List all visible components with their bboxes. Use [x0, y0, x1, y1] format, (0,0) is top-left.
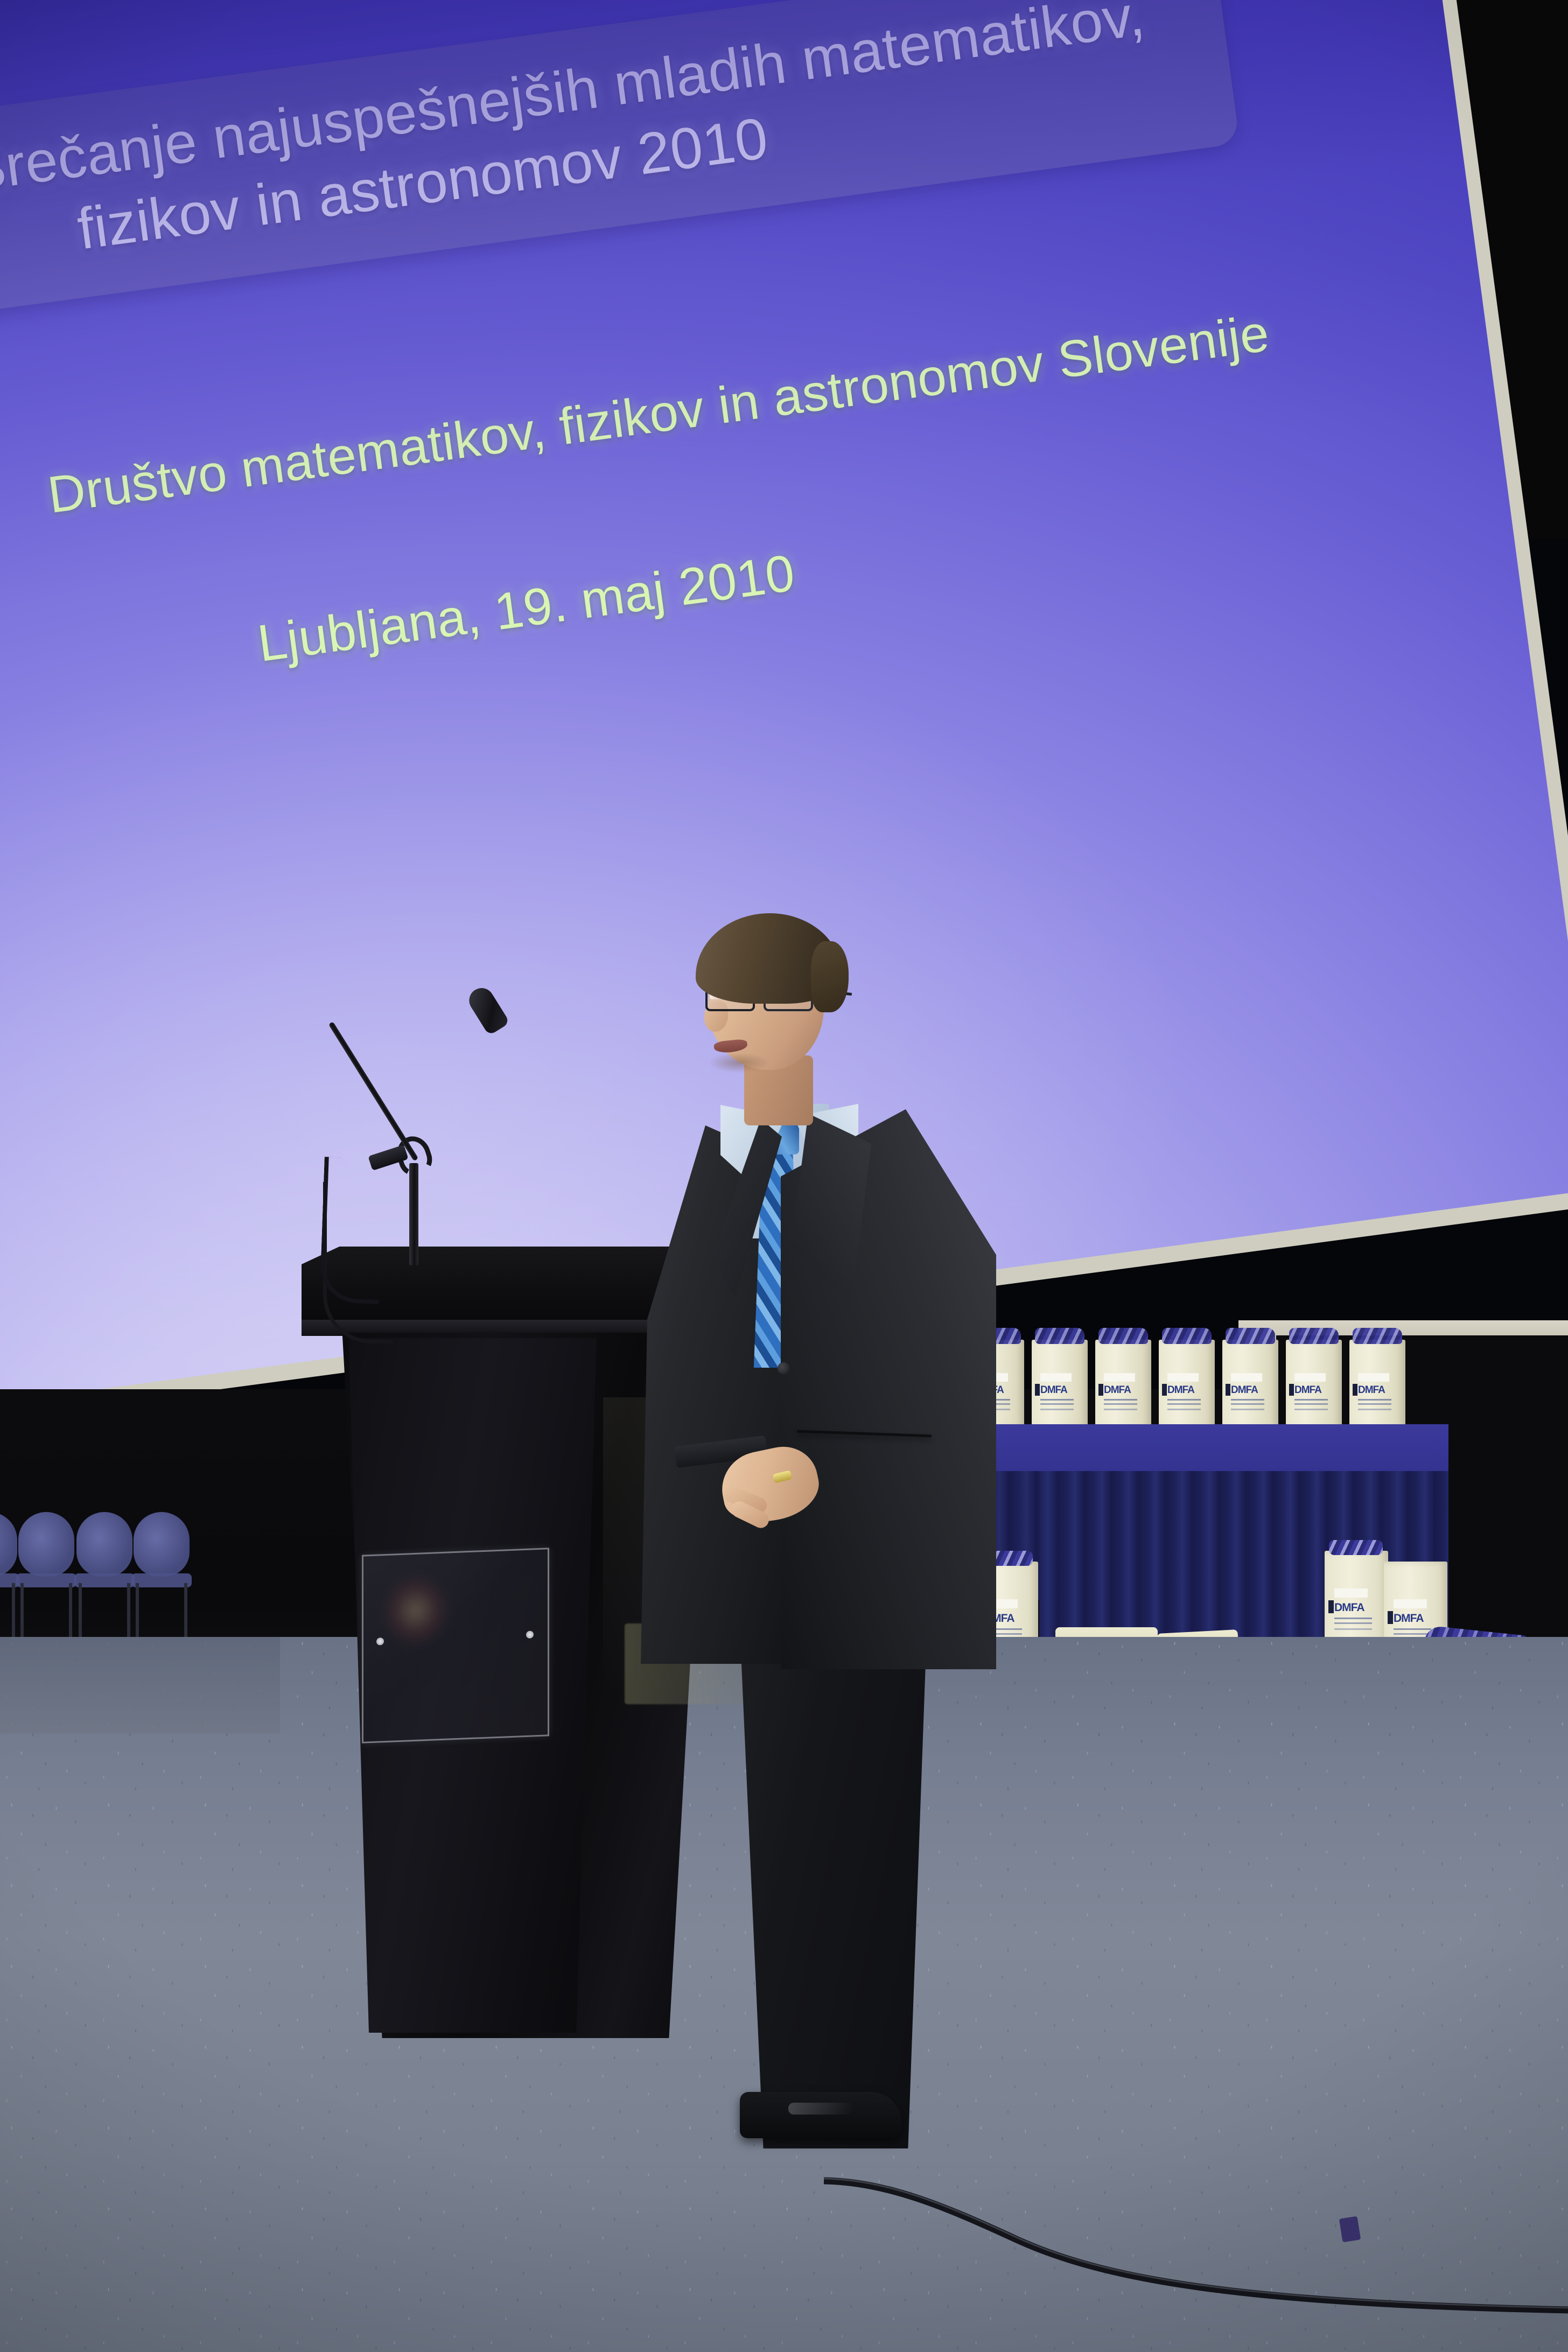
bag-logo: DMFA: [1294, 1385, 1321, 1395]
bag-label: [1231, 1373, 1262, 1382]
speaker: [619, 894, 1018, 2132]
bag-logo-subtext: [1294, 1399, 1328, 1401]
bag-logo: DMFA: [1104, 1385, 1131, 1395]
shoe-highlight: [788, 2103, 853, 2115]
bag-label: [1294, 1373, 1326, 1382]
microphone-stand: [409, 1163, 418, 1265]
gift-bag: DMFA: [1159, 1340, 1215, 1432]
slide-date-location: Ljubljana, 19. maj 2010: [254, 543, 798, 674]
microphone-gooseneck: [328, 1021, 418, 1161]
chair-leg: [127, 1583, 130, 1637]
bag-contents: [1035, 1328, 1084, 1344]
microphone: [318, 985, 544, 1265]
bag-logo: DMFA: [1394, 1612, 1424, 1625]
bag-label: [1334, 1588, 1368, 1598]
slide-title-band: Srečanje najuspešnejših mladih matematik…: [0, 0, 1240, 316]
chair-back: [134, 1512, 190, 1577]
bag-logo: DMFA: [1167, 1385, 1194, 1395]
bag-logo-subtext: [1358, 1399, 1391, 1401]
bag-contents: [1289, 1328, 1339, 1344]
bag-logo-subtext: [1231, 1399, 1264, 1401]
jacket-button: [778, 1362, 789, 1374]
gift-bag: DMFA: [1349, 1340, 1405, 1432]
bag-contents: [1226, 1328, 1275, 1344]
chair-leg: [184, 1583, 187, 1637]
microphone-head: [465, 983, 510, 1035]
bag-label: [1394, 1599, 1427, 1608]
bag-logo-subtext: [1334, 1618, 1372, 1619]
gift-bag: DMFA: [1095, 1340, 1151, 1432]
floor-cable: [824, 2132, 1568, 2315]
lectern-acrylic-panel: [362, 1548, 549, 1743]
speaker-hair: [696, 913, 841, 1004]
chair-row: [0, 1432, 210, 1658]
bag-logo: DMFA: [1358, 1385, 1385, 1395]
chair-leg: [79, 1583, 82, 1637]
bag-label: [1358, 1373, 1389, 1382]
speaker-trousers: [700, 1648, 926, 2148]
bag-label: [1104, 1373, 1135, 1382]
panel-stud: [526, 1630, 534, 1639]
bag-logo-subtext: [1104, 1399, 1137, 1401]
bag-contents: [1162, 1328, 1212, 1344]
bag-logo: DMFA: [1334, 1601, 1364, 1614]
carpet-shadow-band: [0, 1637, 280, 1734]
bag-contents: [1098, 1328, 1148, 1344]
chair-back: [76, 1512, 132, 1577]
bag-logo-subtext: [1040, 1399, 1074, 1401]
speaker-shoe: [740, 2092, 901, 2138]
bag-contents: [1329, 1540, 1383, 1555]
chair-leg: [69, 1583, 72, 1637]
cable-clip: [1339, 2216, 1361, 2243]
chair-seat: [131, 1573, 192, 1587]
bag-logo: DMFA: [1040, 1385, 1067, 1395]
speaker-chin-shadow: [711, 1053, 781, 1077]
bag-contents: [1353, 1328, 1402, 1344]
chair-seat: [16, 1573, 76, 1587]
microphone-cable: [319, 1157, 383, 1304]
bag-logo: DMFA: [1231, 1385, 1258, 1395]
chair-seat: [74, 1573, 135, 1587]
chair-back: [18, 1512, 74, 1577]
bag-label: [1167, 1373, 1199, 1382]
gift-bag: DMFA: [1032, 1340, 1088, 1432]
photograph-stage: Srečanje najuspešnejših mladih matematik…: [0, 0, 1568, 2352]
gift-bag: DMFA: [1286, 1340, 1342, 1432]
chair-leg: [20, 1583, 24, 1637]
slide-organization: Društvo matematikov, fizikov in astronom…: [44, 304, 1272, 525]
panel-reflection: [382, 1570, 479, 1682]
chair-back: [0, 1512, 17, 1577]
bag-logo-subtext: [1394, 1628, 1431, 1630]
chair-leg: [136, 1583, 139, 1637]
chair-leg: [12, 1583, 15, 1637]
gift-bag: DMFA: [1222, 1340, 1278, 1432]
bag-label: [1040, 1373, 1072, 1382]
bag-logo-subtext: [1167, 1399, 1201, 1401]
